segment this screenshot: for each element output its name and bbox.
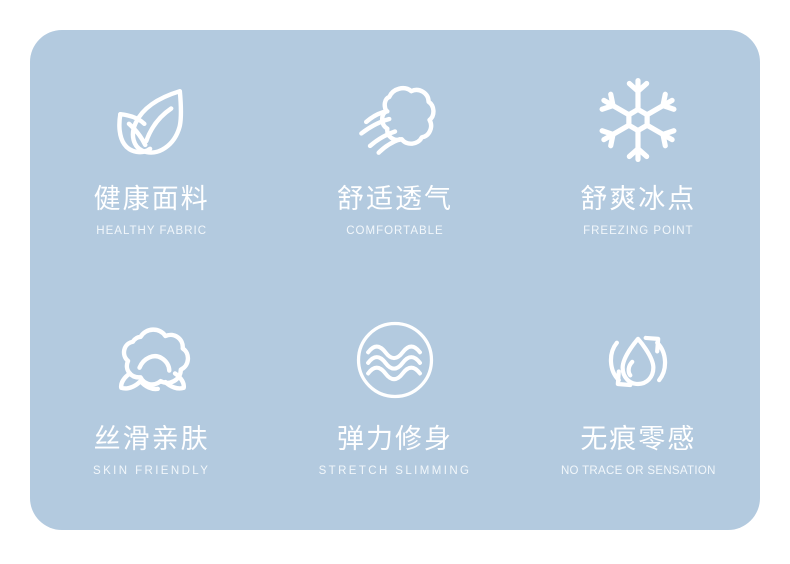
feature-title-cn: 弹力修身 [337,426,453,453]
feature-title-cn: 健康面料 [94,186,210,213]
leaf-icon [104,72,200,168]
feature-title-cn: 舒爽冰点 [580,186,696,213]
feature-card-stretch-slimming[interactable]: 弹力修身 STRETCH SLIMMING [273,280,516,530]
feature-title-cn: 舒适透气 [337,186,453,213]
waves-circle-icon [347,312,443,408]
snowflake-icon [590,72,686,168]
feature-card-skin-friendly[interactable]: 丝滑亲肤 SKIN FRIENDLY [30,280,273,530]
droplet-recycle-icon [590,312,686,408]
feature-title-en: COMFORTABLE [346,226,443,238]
feature-card-no-trace[interactable]: 无痕零感 NO TRACE OR SENSATION [517,280,760,530]
feature-title-cn: 无痕零感 [580,426,696,453]
feature-title-en: STRETCH SLIMMING [319,466,472,478]
feature-grid: 健康面料 HEALTHY FABRIC 舒适透气 COMFORTABLE [30,30,760,530]
feature-title-en: SKIN FRIENDLY [93,466,210,478]
feature-title-en: HEALTHY FABRIC [96,226,207,238]
cotton-boll-icon [104,312,200,408]
feature-card-healthy-fabric[interactable]: 健康面料 HEALTHY FABRIC [30,30,273,280]
feature-title-cn: 丝滑亲肤 [94,426,210,453]
feature-card-comfortable[interactable]: 舒适透气 COMFORTABLE [273,30,516,280]
cloud-breeze-icon [347,72,443,168]
feature-title-en: FREEZING POINT [583,226,693,238]
feature-panel: 健康面料 HEALTHY FABRIC 舒适透气 COMFORTABLE [30,30,760,530]
feature-title-en: NO TRACE OR SENSATION [561,466,716,478]
feature-card-freezing-point[interactable]: 舒爽冰点 FREEZING POINT [517,30,760,280]
